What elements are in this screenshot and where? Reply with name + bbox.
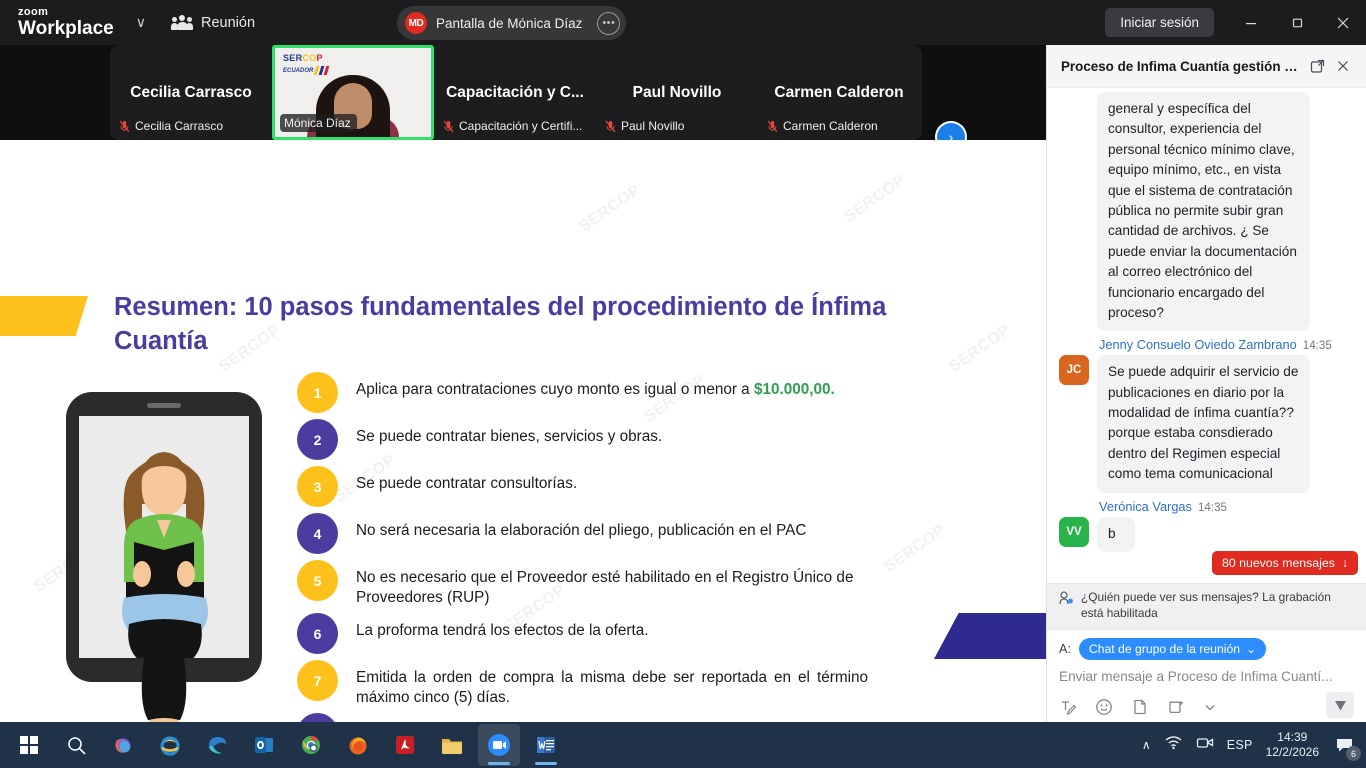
window-controls: Iniciar sesión	[1105, 0, 1366, 45]
notification-center-icon[interactable]: 6	[1332, 732, 1358, 758]
chevron-down-icon: ⌄	[1246, 642, 1256, 656]
muted-mic-icon	[605, 120, 616, 133]
chat-message-bubble: b	[1097, 517, 1135, 552]
chat-privacy-notice: ¿Quién puede ver sus mensajes? La grabac…	[1047, 583, 1366, 629]
page-title: Resumen: 10 pasos fundamentales del proc…	[114, 290, 914, 359]
chat-message-bubble: general y específica del consultor, expe…	[1097, 92, 1310, 331]
taskbar-active-underline	[488, 762, 510, 765]
close-icon[interactable]	[1330, 53, 1356, 79]
chat-panel: Proceso de Infima Cuantía gestión y ... …	[1046, 45, 1366, 722]
tablet-illustration	[66, 392, 262, 682]
participant-tile[interactable]: Capacitación y C... Capacitación y Certi…	[434, 45, 596, 140]
chat-to-label: A:	[1059, 642, 1071, 656]
chrome-icon[interactable]	[290, 724, 332, 766]
step-number: 6	[297, 613, 338, 654]
participant-tile[interactable]: Cecilia Carrasco Cecilia Carrasco	[110, 45, 272, 140]
watermark: SERCOP	[946, 321, 1014, 376]
step-number: 5	[297, 560, 338, 601]
name-chip: Carmen Calderon	[763, 117, 884, 135]
search-icon[interactable]	[55, 724, 97, 766]
list-item: 2 Se puede contratar bienes, servicios y…	[297, 419, 897, 460]
step-amount: $10.000,00.	[754, 381, 835, 398]
edge-icon[interactable]	[196, 724, 238, 766]
participant-filmstrip: Cecilia Carrasco Cecilia Carrasco SERCOP…	[0, 45, 1046, 140]
zoom-brand-line2: Workplace	[18, 19, 114, 38]
chat-title: Proceso de Infima Cuantía gestión y ...	[1061, 59, 1304, 74]
screenshot-icon[interactable]	[1167, 698, 1185, 716]
arrow-down-icon: ↓	[1342, 556, 1348, 570]
meeting-label: Reunión	[201, 15, 255, 31]
chat-composer-toolbar	[1059, 698, 1354, 716]
watermark: SERCOP	[841, 171, 909, 226]
notification-count: 6	[1346, 746, 1361, 761]
chevron-down-icon[interactable]: ∨	[136, 14, 146, 31]
name-chip-label: Cecilia Carrasco	[135, 119, 223, 133]
tablet-screen	[79, 416, 249, 658]
chat-message: general y específica del consultor, expe…	[1059, 92, 1354, 331]
screen: zoom Workplace ∨ Reunión MD Pantalla de …	[0, 0, 1366, 768]
step-text-pre: Aplica para contrataciones cuyo monto es…	[356, 381, 754, 398]
chat-message-meta: Verónica Vargas 14:35	[1099, 499, 1354, 514]
zoom-title-bar: zoom Workplace ∨ Reunión MD Pantalla de …	[0, 0, 1366, 45]
tablet-speaker	[147, 403, 181, 408]
sign-in-button[interactable]: Iniciar sesión	[1105, 8, 1214, 37]
chat-recipient-selector[interactable]: Chat de grupo de la reunión ⌄	[1079, 638, 1266, 660]
zoom-logo: zoom Workplace	[18, 7, 114, 38]
name-chip: Paul Novillo	[601, 117, 690, 135]
shared-screen-slide: SERCOP SERCOP SERCOP SERCOP SERCOP SERCO…	[0, 140, 1046, 722]
woman-reading-icon	[79, 416, 249, 658]
firefox-icon[interactable]	[337, 724, 379, 766]
privacy-notice-text: ¿Quién puede ver sus mensajes? La grabac…	[1081, 590, 1356, 622]
step-text: Emitida la orden de compra la misma debe…	[356, 660, 868, 707]
chat-timestamp: 14:35	[1303, 339, 1332, 352]
participant-display-name: Cecilia Carrasco	[110, 84, 272, 102]
chat-message: Verónica Vargas 14:35 VV b	[1059, 499, 1354, 552]
step-number: 3	[297, 466, 338, 507]
screen-share-indicator[interactable]: MD Pantalla de Mónica Díaz •••	[397, 6, 626, 40]
list-item: 7 Emitida la orden de compra la misma de…	[297, 660, 897, 707]
name-chip: Cecilia Carrasco	[115, 117, 229, 135]
chat-sender-name[interactable]: Jenny Consuelo Oviedo Zambrano	[1099, 337, 1297, 352]
purple-accent-shape	[934, 613, 1046, 659]
participant-tile[interactable]: Carmen Calderon Carmen Calderon	[758, 45, 920, 140]
name-chip: Capacitación y Certifi...	[439, 117, 588, 135]
outlook-icon[interactable]	[243, 724, 285, 766]
steps-list: 1 Aplica para contrataciones cuyo monto …	[297, 372, 897, 722]
taskbar-active-underline	[535, 762, 557, 765]
step-text: Aplica para contrataciones cuyo monto es…	[356, 372, 835, 400]
system-tray: ∧ ESP 14:39 12/2/2026 6	[1142, 730, 1358, 760]
list-item: 3 Se puede contratar consultorías.	[297, 466, 897, 507]
chat-composer: A: Chat de grupo de la reunión ⌄ Enviar …	[1047, 629, 1366, 722]
send-button[interactable]	[1326, 692, 1354, 718]
maximize-button[interactable]	[1274, 0, 1320, 45]
tray-chevron-up-icon[interactable]: ∧	[1142, 738, 1151, 752]
watermark: SERCOP	[576, 181, 644, 236]
participant-tile-active-speaker[interactable]: SERCOP ECUADOR Mónica Díaz	[272, 45, 434, 140]
step-text: Se puede contratar consultorías.	[356, 466, 577, 494]
chat-message-row: JC Se puede adquirir el servicio de publ…	[1059, 355, 1354, 492]
more-chevron-icon[interactable]	[1203, 700, 1217, 714]
chat-header: Proceso de Infima Cuantía gestión y ...	[1047, 45, 1366, 88]
new-messages-label: 80 nuevos mensajes	[1222, 556, 1335, 570]
chat-message: Jenny Consuelo Oviedo Zambrano 14:35 JC …	[1059, 337, 1354, 492]
step-number: 2	[297, 419, 338, 460]
avatar: JC	[1059, 355, 1089, 385]
name-chip-label: Carmen Calderon	[783, 119, 878, 133]
more-options-icon[interactable]: •••	[597, 12, 620, 35]
word-icon[interactable]	[525, 724, 567, 766]
clock-time: 14:39	[1277, 730, 1307, 744]
chat-message-row: VV b	[1059, 517, 1354, 552]
step-text: Se puede contratar bienes, servicios y o…	[356, 419, 662, 447]
muted-mic-icon	[767, 120, 778, 133]
step-number: 7	[297, 660, 338, 701]
zoom-icon[interactable]	[478, 724, 520, 766]
emoji-icon[interactable]	[1095, 698, 1113, 716]
step-number: 1	[297, 372, 338, 413]
clock-date: 12/2/2026	[1266, 745, 1319, 759]
camera-icon[interactable]	[1196, 735, 1214, 755]
name-chip-label: Capacitación y Certifi...	[459, 119, 582, 133]
chat-timestamp: 14:35	[1198, 501, 1227, 514]
meeting-button[interactable]: Reunión	[172, 15, 255, 31]
close-button[interactable]	[1320, 0, 1366, 45]
format-text-icon[interactable]	[1059, 698, 1077, 716]
windows-taskbar: ∧ ESP 14:39 12/2/2026 6	[0, 722, 1366, 768]
list-item: 5 No es necesario que el Proveedor esté …	[297, 560, 897, 607]
step-text: La proforma tendrá los efectos de la ofe…	[356, 613, 649, 641]
participant-tile[interactable]: Paul Novillo Paul Novillo	[596, 45, 758, 140]
chat-sender-name[interactable]: Verónica Vargas	[1099, 499, 1192, 514]
taskbar-app-icons	[8, 724, 567, 766]
step-text: El uso de la firma electrónica es discre…	[356, 713, 662, 722]
participant-display-name: Carmen Calderon	[758, 84, 920, 102]
list-item: 4 No será necesaria la elaboración del p…	[297, 513, 897, 554]
clock[interactable]: 14:39 12/2/2026	[1266, 730, 1319, 760]
start-icon[interactable]	[8, 724, 50, 766]
new-messages-button[interactable]: 80 nuevos mensajes ↓	[1212, 551, 1358, 575]
muted-mic-icon	[443, 120, 454, 133]
step-text: No será necesaria la elaboración del pli…	[356, 513, 806, 541]
chat-message-meta: Jenny Consuelo Oviedo Zambrano 14:35	[1099, 337, 1354, 352]
wifi-icon[interactable]	[1164, 735, 1183, 755]
step-number: 4	[297, 513, 338, 554]
chat-recipient-value: Chat de grupo de la reunión	[1089, 642, 1240, 656]
copilot-icon[interactable]	[102, 724, 144, 766]
share-label: Pantalla de Mónica Díaz	[436, 16, 582, 31]
name-chip-label: Paul Novillo	[621, 119, 684, 133]
list-item: 6 La proforma tendrá los efectos de la o…	[297, 613, 897, 654]
filmstrip-tiles: Cecilia Carrasco Cecilia Carrasco SERCOP…	[110, 45, 922, 140]
language-indicator[interactable]: ESP	[1227, 738, 1253, 752]
chat-recipient-row: A: Chat de grupo de la reunión ⌄	[1059, 638, 1354, 660]
people-icon	[172, 15, 192, 31]
participant-display-name: Capacitación y C...	[434, 84, 596, 102]
name-chip: Mónica Díaz	[280, 114, 357, 132]
popout-icon[interactable]	[1304, 53, 1330, 79]
acrobat-icon[interactable]	[384, 724, 426, 766]
privacy-person-icon	[1059, 591, 1074, 605]
file-icon[interactable]	[1131, 698, 1149, 716]
list-item: 1 Aplica para contrataciones cuyo monto …	[297, 372, 897, 413]
chat-message-input[interactable]: Enviar mensaje a Proceso de Infima Cuant…	[1059, 669, 1354, 684]
step-text: No es necesario que el Proveedor esté ha…	[356, 560, 868, 607]
step-number: 8	[297, 713, 338, 722]
chat-message-list[interactable]: general y específica del consultor, expe…	[1047, 88, 1366, 629]
minimize-button[interactable]	[1228, 0, 1274, 45]
muted-mic-icon	[119, 120, 130, 133]
internet-explorer-icon[interactable]	[149, 724, 191, 766]
zoom-brand-line1: zoom	[18, 7, 114, 18]
yellow-accent-shape	[0, 296, 88, 336]
name-chip-label: Mónica Díaz	[284, 116, 351, 130]
list-item: 8 El uso de la firma electrónica es disc…	[297, 713, 897, 722]
chat-message-bubble: Se puede adquirir el servicio de publica…	[1097, 355, 1310, 492]
avatar: MD	[405, 12, 427, 34]
participant-display-name: Paul Novillo	[596, 84, 758, 102]
avatar: VV	[1059, 517, 1089, 547]
file-explorer-icon[interactable]	[431, 724, 473, 766]
